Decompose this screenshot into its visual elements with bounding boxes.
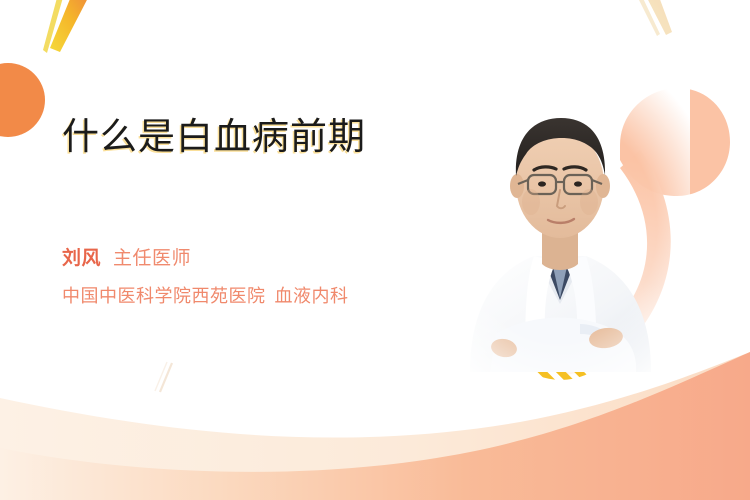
poster-canvas: 什么是白血病前期 刘风主任医师 中国中医科学院西苑医院血液内科 — [0, 0, 750, 500]
doctor-hospital: 中国中医科学院西苑医院 — [62, 286, 266, 306]
poster-content: 什么是白血病前期 刘风主任医师 中国中医科学院西苑医院血液内科 — [0, 0, 750, 500]
page-title: 什么是白血病前期 — [62, 113, 366, 161]
doctor-name: 刘风 — [62, 248, 101, 269]
doctor-department: 血液内科 — [275, 286, 349, 306]
doctor-name-row: 刘风主任医师 — [62, 245, 349, 273]
doctor-rank: 主任医师 — [113, 248, 191, 269]
doctor-credentials: 刘风主任医师 中国中医科学院西苑医院血液内科 — [62, 245, 349, 310]
doctor-affiliation-row: 中国中医科学院西苑医院血液内科 — [62, 282, 349, 310]
